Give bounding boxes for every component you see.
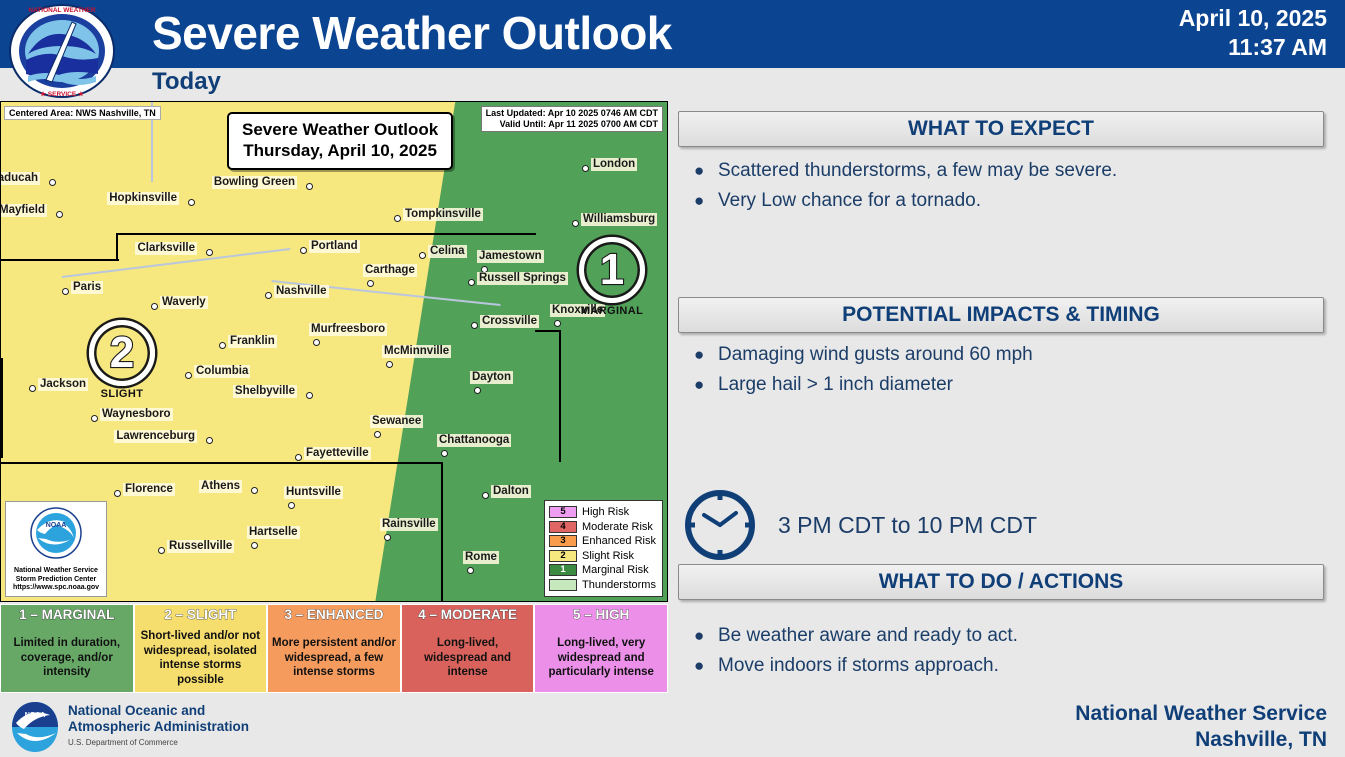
noaa-seal-icon: NOAA — [26, 506, 86, 562]
city-label: Rainsville — [380, 518, 438, 531]
state-border-ky-tn — [116, 233, 536, 235]
risk-ring: 2 — [89, 320, 155, 386]
risk-category-cell: 3 – ENHANCEDMore persistent and/or wides… — [267, 604, 401, 693]
bullet-dot-icon: ● — [694, 652, 718, 680]
bullet-text: Scattered thunderstorms, a few may be se… — [718, 157, 1117, 185]
legend-row: 3Enhanced Risk — [549, 534, 656, 549]
city-label: Clarksville — [135, 242, 197, 255]
legend-row: 5High Risk — [549, 505, 656, 520]
bullet-text: Very Low chance for a tornado. — [718, 187, 981, 215]
last-updated-text: Last Updated: Apr 10 2025 0746 AM CDT — [486, 108, 658, 119]
city-dot-icon — [474, 387, 481, 394]
svg-text:NOAA: NOAA — [46, 522, 67, 529]
risk-category-desc: Long-lived, widespread and intense — [405, 624, 531, 692]
bullet-text: Large hail > 1 inch diameter — [718, 371, 953, 399]
noaa-footer-text: National Oceanic and Atmospheric Adminis… — [68, 703, 249, 747]
svg-text:NATIONAL WEATHER: NATIONAL WEATHER — [28, 7, 95, 14]
city-dot-icon — [29, 385, 36, 392]
city-label: Dalton — [491, 485, 531, 498]
map-update-box: Last Updated: Apr 10 2025 0746 AM CDT Va… — [481, 106, 663, 132]
state-border-jog — [116, 233, 118, 260]
risk-category-cell: 2 – SLIGHTShort-lived and/or not widespr… — [134, 604, 268, 693]
actions-bullets: ●Be weather aware and ready to act.●Move… — [694, 622, 1018, 682]
risk-category-desc: More persistent and/or widespread, a few… — [271, 624, 397, 692]
state-border-east-top — [535, 330, 561, 332]
city-dot-icon — [582, 165, 589, 172]
city-dot-icon — [367, 280, 374, 287]
risk-category-title: 4 – MODERATE — [418, 607, 517, 622]
risk-word: MARGINAL — [579, 305, 645, 317]
issuing-office: National Weather Service Nashville, TN — [1075, 701, 1327, 753]
right-panel: WHAT TO EXPECT ●Scattered thunderstorms,… — [672, 101, 1345, 697]
severe-weather-outlook-graphic: NATIONAL WEATHER ★ SERVICE ★ Severe Weat… — [0, 0, 1345, 757]
legend-swatch — [549, 579, 577, 591]
legend-label: Enhanced Risk — [582, 535, 656, 547]
risk-number: 2 — [110, 331, 134, 375]
noaa-line3: U.S. Department of Commerce — [68, 738, 249, 747]
noaa-logo-icon: NOAA — [10, 701, 60, 753]
bullet-dot-icon: ● — [694, 622, 718, 650]
spc-credit-box: NOAA National Weather Service Storm Pred… — [5, 501, 107, 597]
city-label: Russellville — [167, 540, 234, 553]
map-title-line2: Thursday, April 10, 2025 — [242, 140, 438, 161]
city-dot-icon — [158, 547, 165, 554]
legend-row: 4Moderate Risk — [549, 520, 656, 535]
office-line2: Nashville, TN — [1075, 727, 1327, 753]
expect-bullet: ●Very Low chance for a tornado. — [694, 187, 1117, 215]
city-dot-icon — [306, 392, 313, 399]
city-dot-icon — [91, 415, 98, 422]
spc-url[interactable]: https://www.spc.noaa.gov — [8, 584, 104, 593]
risk-category-bar: 1 – MARGINALLimited in duration, coverag… — [0, 604, 668, 693]
city-label: Russell Springs — [477, 272, 568, 285]
city-label: Fayetteville — [304, 447, 371, 460]
city-dot-icon — [471, 322, 478, 329]
city-label: Rome — [463, 551, 499, 564]
risk-number: 1 — [600, 248, 624, 292]
city-label: Carthage — [363, 264, 417, 277]
risk-category-cell: 1 – MARGINALLimited in duration, coverag… — [0, 604, 134, 693]
city-label: Florence — [123, 483, 175, 496]
city-label: Jamestown — [477, 250, 544, 263]
city-dot-icon — [306, 183, 313, 190]
legend-swatch: 2 — [549, 550, 577, 562]
city-dot-icon — [288, 502, 295, 509]
legend-row: Thunderstorms — [549, 578, 656, 593]
valid-until-text: Valid Until: Apr 11 2025 0700 AM CDT — [486, 119, 658, 130]
city-label: Lawrenceburg — [114, 430, 197, 443]
city-label: Nashville — [274, 285, 329, 298]
action-bullet: ●Be weather aware and ready to act. — [694, 622, 1018, 650]
header-time: 11:37 AM — [1179, 33, 1327, 62]
legend-swatch: 4 — [549, 521, 577, 533]
city-label: Mayfield — [0, 204, 47, 217]
risk-category-cell: 4 – MODERATELong-lived, widespread and i… — [401, 604, 535, 693]
city-dot-icon — [419, 252, 426, 259]
city-label: Crossville — [480, 315, 539, 328]
office-line1: National Weather Service — [1075, 701, 1327, 727]
bullet-text: Be weather aware and ready to act. — [718, 622, 1018, 650]
city-dot-icon — [572, 220, 579, 227]
risk-word: SLIGHT — [89, 388, 155, 400]
city-label: Williamsburg — [581, 213, 657, 226]
city-label: Athens — [199, 480, 242, 493]
city-label: Hartselle — [247, 526, 300, 539]
what-to-expect-heading: WHAT TO EXPECT — [678, 111, 1324, 147]
bullet-dot-icon: ● — [694, 371, 718, 399]
noaa-line1: National Oceanic and — [68, 703, 249, 719]
city-dot-icon — [251, 487, 258, 494]
city-label: Portland — [309, 240, 360, 253]
svg-text:★ SERVICE ★: ★ SERVICE ★ — [40, 90, 85, 98]
city-dot-icon — [441, 450, 448, 457]
city-dot-icon — [151, 303, 158, 310]
risk-marker-marginal: 1MARGINAL — [579, 237, 645, 317]
city-label: Chattanooga — [437, 434, 511, 447]
risk-category-title: 2 – SLIGHT — [164, 607, 236, 622]
subheader-label: Today — [152, 68, 221, 96]
state-border-tn-al — [1, 462, 441, 464]
state-border-ms — [1, 358, 3, 458]
legend-row: 2Slight Risk — [549, 549, 656, 564]
bullet-dot-icon: ● — [694, 187, 718, 215]
legend-label: High Risk — [582, 506, 629, 518]
spc-line1: National Weather Service — [8, 567, 104, 576]
risk-category-desc: Short-lived and/or not widespread, isola… — [138, 624, 264, 692]
city-dot-icon — [206, 249, 213, 256]
city-dot-icon — [554, 320, 561, 327]
risk-ring: 1 — [579, 237, 645, 303]
city-label: Columbia — [194, 365, 250, 378]
risk-category-desc: Limited in duration, coverage, and/or in… — [4, 624, 130, 692]
risk-category-cell: 5 – HIGHLong-lived, very widespread and … — [534, 604, 668, 693]
svg-text:NOAA: NOAA — [25, 712, 46, 719]
state-border-east — [559, 330, 561, 462]
expect-bullet: ●Scattered thunderstorms, a few may be s… — [694, 157, 1117, 185]
risk-category-title: 5 – HIGH — [573, 607, 629, 622]
legend-label: Marginal Risk — [582, 564, 649, 576]
legend-row: 1Marginal Risk — [549, 563, 656, 578]
city-label: Hopkinsville — [107, 192, 179, 205]
bullet-text: Move indoors if storms approach. — [718, 652, 999, 680]
risk-category-desc: Long-lived, very widespread and particul… — [538, 624, 664, 692]
city-label: McMinnville — [382, 345, 451, 358]
city-dot-icon — [56, 211, 63, 218]
header-date: April 10, 2025 — [1179, 4, 1327, 33]
impact-bullet: ●Large hail > 1 inch diameter — [694, 371, 1033, 399]
risk-marker-slight: 2SLIGHT — [89, 320, 155, 400]
legend-label: Slight Risk — [582, 550, 634, 562]
bullet-dot-icon: ● — [694, 341, 718, 369]
city-label: Tompkinsville — [403, 208, 483, 221]
timing-row: 3 PM CDT to 10 PM CDT — [682, 487, 1037, 563]
city-dot-icon — [374, 431, 381, 438]
outlook-map[interactable]: Centered Area: NWS Nashville, TN Severe … — [0, 101, 668, 602]
city-dot-icon — [49, 179, 56, 186]
spc-line2: Storm Prediction Center — [8, 576, 104, 585]
legend-swatch: 1 — [549, 564, 577, 576]
page-title: Severe Weather Outlook — [152, 6, 672, 60]
legend-swatch: 3 — [549, 535, 577, 547]
city-label: Jackson — [38, 378, 88, 391]
city-label: Dayton — [470, 371, 513, 384]
city-dot-icon — [206, 437, 213, 444]
city-label: Celina — [428, 245, 467, 258]
city-dot-icon — [468, 279, 475, 286]
city-dot-icon — [482, 492, 489, 499]
city-dot-icon — [114, 490, 121, 497]
impact-bullet: ●Damaging wind gusts around 60 mph — [694, 341, 1033, 369]
clock-icon — [682, 487, 758, 563]
city-dot-icon — [295, 454, 302, 461]
city-dot-icon — [313, 339, 320, 346]
city-label: Waynesboro — [100, 408, 173, 421]
city-label: Bowling Green — [212, 176, 297, 189]
impacts-heading: POTENTIAL IMPACTS & TIMING — [678, 297, 1324, 333]
impacts-bullets: ●Damaging wind gusts around 60 mph●Large… — [694, 341, 1033, 401]
bullet-text: Damaging wind gusts around 60 mph — [718, 341, 1033, 369]
city-dot-icon — [386, 361, 393, 368]
bullet-dot-icon: ● — [694, 157, 718, 185]
city-dot-icon — [300, 247, 307, 254]
what-to-expect-bullets: ●Scattered thunderstorms, a few may be s… — [694, 157, 1117, 217]
state-border-west — [1, 259, 119, 261]
risk-category-title: 3 – ENHANCED — [284, 607, 383, 622]
city-label: Franklin — [228, 335, 277, 348]
city-label: Shelbyville — [233, 385, 297, 398]
city-dot-icon — [394, 215, 401, 222]
city-dot-icon — [185, 372, 192, 379]
legend-label: Thunderstorms — [582, 579, 656, 591]
city-label: Murfreesboro — [309, 323, 387, 336]
footer: NOAA National Oceanic and Atmospheric Ad… — [0, 697, 1345, 757]
map-title-box: Severe Weather Outlook Thursday, April 1… — [227, 112, 453, 170]
legend-swatch: 5 — [549, 506, 577, 518]
nws-logo-icon: NATIONAL WEATHER ★ SERVICE ★ — [6, 2, 118, 100]
centered-area-label: Centered Area: NWS Nashville, TN — [4, 106, 161, 120]
map-title-line1: Severe Weather Outlook — [242, 119, 438, 140]
city-label: Paris — [71, 281, 103, 294]
city-dot-icon — [219, 342, 226, 349]
city-label: Huntsville — [284, 486, 343, 499]
timing-text: 3 PM CDT to 10 PM CDT — [778, 512, 1037, 539]
state-border-ga — [441, 462, 443, 602]
legend-label: Moderate Risk — [582, 521, 653, 533]
city-dot-icon — [265, 292, 272, 299]
city-dot-icon — [384, 534, 391, 541]
city-dot-icon — [251, 542, 258, 549]
noaa-line2: Atmospheric Administration — [68, 719, 249, 735]
city-label: Paducah — [0, 172, 40, 185]
risk-legend: 5High Risk4Moderate Risk3Enhanced Risk2S… — [544, 500, 663, 597]
risk-category-title: 1 – MARGINAL — [19, 607, 114, 622]
city-label: Waverly — [160, 296, 208, 309]
city-label: Sewanee — [370, 415, 423, 428]
city-dot-icon — [467, 567, 474, 574]
city-label: London — [591, 158, 637, 171]
city-dot-icon — [62, 288, 69, 295]
header-datetime: April 10, 2025 11:37 AM — [1179, 4, 1327, 62]
city-dot-icon — [188, 199, 195, 206]
action-bullet: ●Move indoors if storms approach. — [694, 652, 1018, 680]
actions-heading: WHAT TO DO / ACTIONS — [678, 564, 1324, 600]
